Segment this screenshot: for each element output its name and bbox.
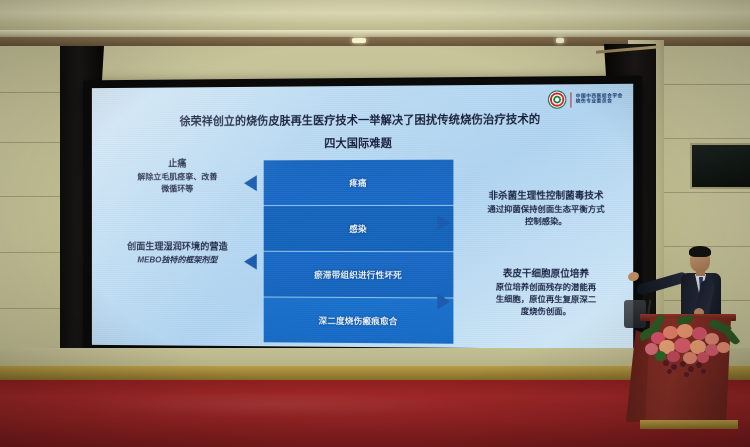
solution-body-line: 通过抑菌保持创面生态平衡方式 — [462, 204, 632, 216]
arrow-right-icon — [437, 215, 450, 231]
ceiling-light — [352, 38, 366, 43]
slide-title-line-1: 徐荣祥创立的烧伤皮肤再生医疗技术一举解决了困扰传统烧伤治疗技术的 — [180, 114, 541, 128]
solution-body-line: 控制感染。 — [462, 216, 632, 228]
ceiling-cornice — [0, 30, 750, 37]
logo-divider — [571, 92, 572, 107]
solution-block-moist-environment: 创面生理湿润环境的营造 MEBO独特的框架剂型 — [94, 240, 262, 267]
solution-body-line: 原位培养创面残存的潜能再 — [462, 282, 632, 295]
slide-title-line-2: 四大国际难题 — [92, 134, 633, 152]
problem-box-stack: 疼痛 感染 瘀滞带组织进行性坏死 深二度烧伤瘢痕愈合 — [264, 160, 454, 344]
solution-body-line: 度烧伤创面。 — [462, 305, 632, 318]
conference-hall-scene: 中国中西医结合学会 烧伤专业委员会 徐荣祥创立的烧伤皮肤再生医疗技术一举解决了困… — [0, 0, 750, 447]
arrow-right-icon — [437, 293, 450, 309]
solution-block-stem-cell-culture: 表皮干细胞原位培养 原位培养创面残存的潜能再 生细胞，原位再生复原深二 度烧伤创… — [462, 266, 632, 318]
problem-box-infection: 感染 — [264, 206, 454, 252]
solution-body-line: 生细胞，原位再生复原深二 — [462, 293, 632, 306]
solution-block-bacteria-control: 非杀菌生理性控制菌毒技术 通过抑菌保持创面生态平衡方式 控制感染。 — [462, 189, 632, 228]
slide-title: 徐荣祥创立的烧伤皮肤再生医疗技术一举解决了困扰传统烧伤治疗技术的 四大国际难题 — [92, 110, 633, 152]
logo-text: 中国中西医结合学会 烧伤专业委员会 — [576, 94, 623, 104]
solution-heading: 表皮干细胞原位培养 — [462, 266, 632, 280]
problem-box-pain: 疼痛 — [264, 160, 454, 206]
projection-screen: 中国中西医结合学会 烧伤专业委员会 徐荣祥创立的烧伤皮肤再生医疗技术一举解决了困… — [92, 84, 633, 349]
solution-block-analgesia: 止痛 解除立毛肌痉挛、改善 微循环等 — [100, 156, 256, 195]
logo-line-2: 烧伤专业委员会 — [576, 99, 623, 104]
solution-body-line: 解除立毛肌痉挛、改善 — [100, 172, 256, 184]
wall-mounted-display — [690, 143, 750, 189]
podium-base-trim — [640, 420, 738, 429]
solution-heading: 创面生理湿润环境的营造 — [94, 240, 262, 254]
problem-box-scar: 深二度烧伤瘢痕愈合 — [264, 298, 454, 344]
solution-body-line: 微循环等 — [100, 183, 256, 195]
ceiling-light — [556, 38, 564, 43]
organization-logo: 中国中西医结合学会 烧伤专业委员会 — [548, 90, 623, 109]
emblem-icon — [548, 90, 566, 108]
carpet-highlight — [60, 392, 480, 418]
solution-heading: 非杀菌生理性控制菌毒技术 — [462, 189, 632, 203]
floral-arrangement — [637, 318, 741, 376]
problem-box-necrosis: 瘀滞带组织进行性坏死 — [264, 252, 454, 299]
presenter-hair — [689, 246, 711, 257]
projection-screen-frame: 中国中西医结合学会 烧伤专业委员会 徐荣祥创立的烧伤皮肤再生医疗技术一举解决了困… — [83, 76, 642, 358]
ceiling — [0, 0, 750, 34]
solution-heading: 止痛 — [100, 156, 256, 170]
solution-body-line: MEBO独特的框架剂型 — [94, 255, 262, 267]
